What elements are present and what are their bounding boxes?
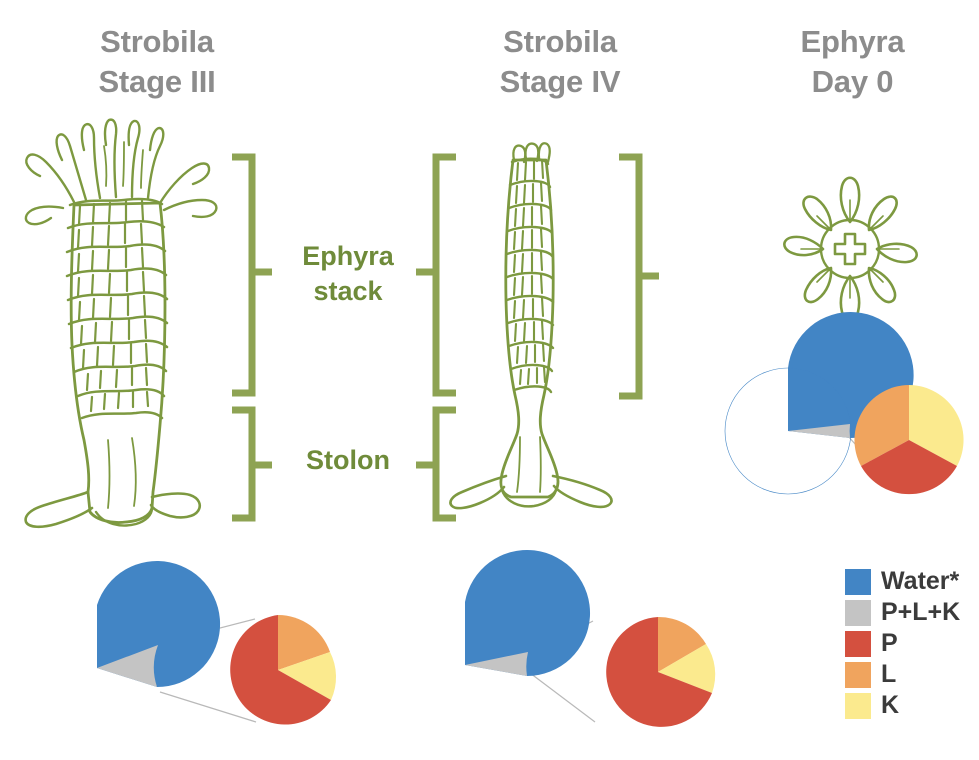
pie-chart-layer bbox=[0, 0, 979, 760]
legend-swatch-k bbox=[845, 693, 871, 719]
pie-stage-iv-sub bbox=[606, 617, 715, 727]
pie-stage-iii-main bbox=[97, 561, 220, 687]
legend-item-p[interactable]: P bbox=[845, 628, 975, 659]
legend-swatch-l bbox=[845, 662, 871, 688]
pie-stage-iv-main bbox=[465, 550, 590, 676]
legend-label-plk: P+L+K bbox=[881, 600, 960, 625]
legend-swatch-plk bbox=[845, 600, 871, 626]
legend: Water* P+L+K P L K bbox=[845, 566, 975, 721]
legend-item-l[interactable]: L bbox=[845, 659, 975, 690]
figure-canvas: Strobila Stage III Strobila Stage IV Eph… bbox=[0, 0, 979, 760]
pie-stage-iii-sub bbox=[230, 615, 336, 725]
legend-label-p: P bbox=[881, 631, 898, 656]
legend-label-l: L bbox=[881, 662, 896, 687]
legend-label-water: Water* bbox=[881, 569, 959, 594]
legend-item-k[interactable]: K bbox=[845, 690, 975, 721]
legend-swatch-p bbox=[845, 631, 871, 657]
pie-ephyra-day-0-sub bbox=[854, 385, 963, 494]
legend-label-k: K bbox=[881, 693, 899, 718]
legend-swatch-water bbox=[845, 569, 871, 595]
legend-item-water[interactable]: Water* bbox=[845, 566, 975, 597]
legend-item-plk[interactable]: P+L+K bbox=[845, 597, 975, 628]
